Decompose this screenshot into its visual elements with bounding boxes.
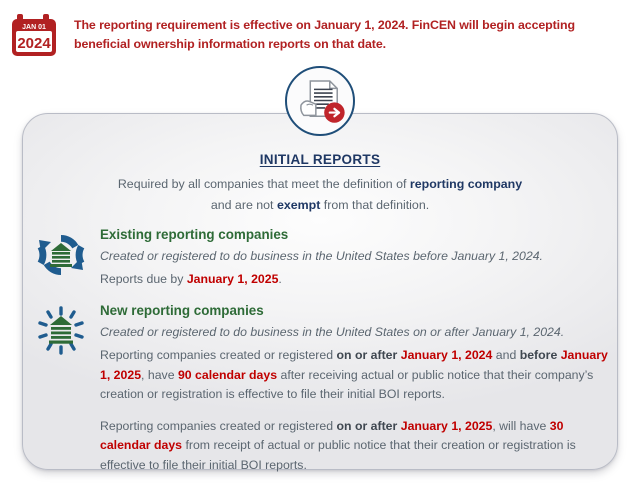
section-new-heading: New reporting companies: [100, 302, 612, 320]
initial-line1-a: Required by all companies that meet the …: [118, 177, 410, 191]
initial-reports-line-1: Required by all companies that meet the …: [70, 174, 570, 195]
section-new-paragraph-2: Reporting companies created or registere…: [100, 417, 612, 476]
section-new-subtitle: Created or registered to do business in …: [100, 323, 612, 342]
banner-text: The reporting requirement is effective o…: [74, 16, 594, 54]
initial-reports-line-2: and are not exempt from that definition.: [70, 195, 570, 216]
initial-line2-c: from that definition.: [320, 198, 429, 212]
banner-text-line-1: The reporting requirement is effective o…: [74, 16, 594, 35]
top-banner: JAN 01 2024 The reporting requirement is…: [0, 0, 640, 70]
section-existing-paragraph-1: Reports due by January 1, 2025.: [100, 270, 612, 290]
new-building-burst-icon: [36, 306, 86, 356]
section-existing-subtitle: Created or registered to do business in …: [100, 247, 612, 266]
calendar-icon: JAN 01 2024: [10, 12, 58, 58]
document-submit-icon: [285, 66, 355, 136]
calendar-year: 2024: [17, 35, 51, 52]
banner-text-line-2: beneficial ownership information reports…: [74, 35, 594, 54]
calendar-month-day: JAN 01: [22, 24, 46, 31]
page-title: INITIAL REPORTS: [0, 152, 640, 167]
initial-reports-description: Required by all companies that meet the …: [70, 174, 570, 216]
refresh-building-icon: [36, 230, 86, 280]
section-new-paragraph-1: Reporting companies created or registere…: [100, 346, 612, 405]
section-existing-reporting-companies: Existing reporting companies Created or …: [36, 226, 612, 290]
section-new-reporting-companies: New reporting companies Created or regis…: [36, 302, 612, 475]
initial-line2-b: exempt: [277, 198, 320, 212]
section-existing-body: Existing reporting companies Created or …: [100, 226, 612, 290]
section-new-body: New reporting companies Created or regis…: [100, 302, 612, 475]
initial-line1-b: reporting company: [410, 177, 522, 191]
initial-line2-a: and are not: [211, 198, 277, 212]
section-existing-heading: Existing reporting companies: [100, 226, 612, 244]
